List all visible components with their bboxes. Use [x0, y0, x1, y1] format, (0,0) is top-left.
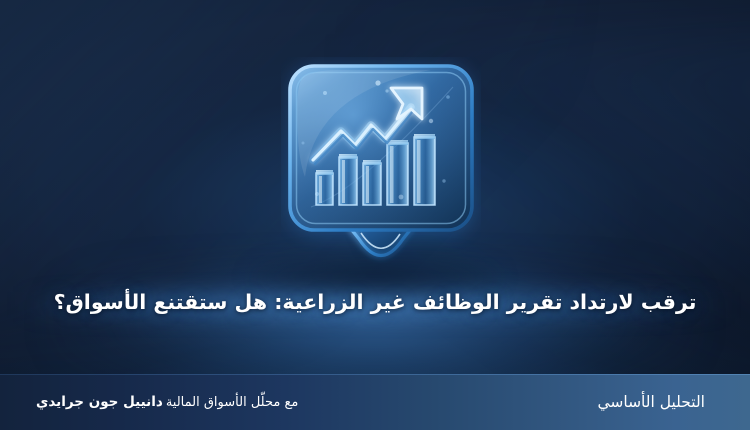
article-headline: ترقب لارتداد تقرير الوظائف غير الزراعية:…: [0, 288, 750, 316]
byline-prefix: مع محلّل الأسواق المالية: [166, 395, 299, 410]
category-label[interactable]: التحليل الأساسي: [597, 393, 750, 411]
footer-bar: التحليل الأساسي مع محلّل الأسواق المالية…: [0, 374, 750, 430]
background-vignette: [0, 0, 750, 430]
article-banner: ترقب لارتداد تقرير الوظائف غير الزراعية:…: [0, 0, 750, 430]
byline: مع محلّل الأسواق الماليةدانييل جون جرايد…: [0, 394, 298, 410]
author-name[interactable]: دانييل جون جرايدي: [36, 394, 163, 410]
